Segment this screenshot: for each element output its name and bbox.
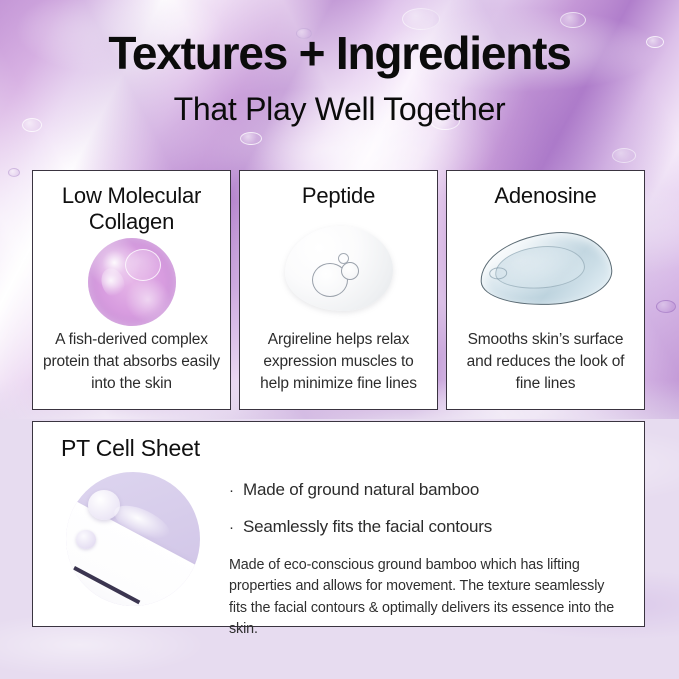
ingredient-swatch-container xyxy=(240,209,437,329)
bullet-dot-icon: · xyxy=(229,483,234,498)
pt-cell-sheet-title: PT Cell Sheet xyxy=(61,435,200,462)
ingredient-card-title: Peptide xyxy=(302,183,375,209)
list-item-label: Seamlessly fits the facial contours xyxy=(243,517,492,537)
pt-cell-sheet-card: PT Cell Sheet · Made of ground natural b… xyxy=(32,421,645,627)
bullet-dot-icon: · xyxy=(229,520,234,535)
adenosine-gel-smear-icon xyxy=(477,228,614,309)
ingredient-card-description: Argireline helps relax expression muscle… xyxy=(240,329,437,409)
ingredient-cards-row: Low Molecular Collagen A fish-derived co… xyxy=(32,170,645,410)
gel-bubble-icon xyxy=(612,148,636,163)
ingredient-infographic-page: Textures + Ingredients That Play Well To… xyxy=(0,0,679,679)
ingredient-card-adenosine: Adenosine Smooths skin’s surface and red… xyxy=(446,170,645,410)
page-subtitle: That Play Well Together xyxy=(0,93,679,125)
header: Textures + Ingredients That Play Well To… xyxy=(0,0,679,125)
page-title: Textures + Ingredients xyxy=(0,30,679,76)
list-item: · Seamlessly fits the facial contours xyxy=(229,517,620,537)
pt-cell-sheet-paragraph: Made of eco-conscious ground bamboo whic… xyxy=(229,555,620,641)
list-item: · Made of ground natural bamboo xyxy=(229,480,620,500)
ingredient-card-description: A fish-derived complex protein that abso… xyxy=(33,329,230,409)
pt-cell-sheet-text: · Made of ground natural bamboo · Seamle… xyxy=(229,480,620,641)
ingredient-card-peptide: Peptide Argireline helps relax expressio… xyxy=(239,170,438,410)
ingredient-swatch-container xyxy=(33,235,230,329)
gel-bubble-icon xyxy=(341,262,359,280)
gel-bubble-icon xyxy=(8,168,20,177)
list-item-label: Made of ground natural bamboo xyxy=(243,480,479,500)
peptide-gel-blob-icon xyxy=(285,226,393,311)
gel-dome-icon xyxy=(76,530,96,549)
ingredient-swatch-container xyxy=(447,209,644,329)
ingredient-card-collagen: Low Molecular Collagen A fish-derived co… xyxy=(32,170,231,410)
gel-bubble-icon xyxy=(240,132,262,145)
gel-bubble-icon xyxy=(338,253,349,264)
ingredient-card-title: Adenosine xyxy=(494,183,596,209)
ingredient-card-description: Smooths skin’s surface and reduces the l… xyxy=(447,329,644,409)
collagen-bubble-icon xyxy=(88,238,176,326)
gel-bubble-icon xyxy=(656,300,676,313)
sheet-mask-circle-photo xyxy=(66,472,200,606)
ingredient-card-title: Low Molecular Collagen xyxy=(33,183,230,235)
